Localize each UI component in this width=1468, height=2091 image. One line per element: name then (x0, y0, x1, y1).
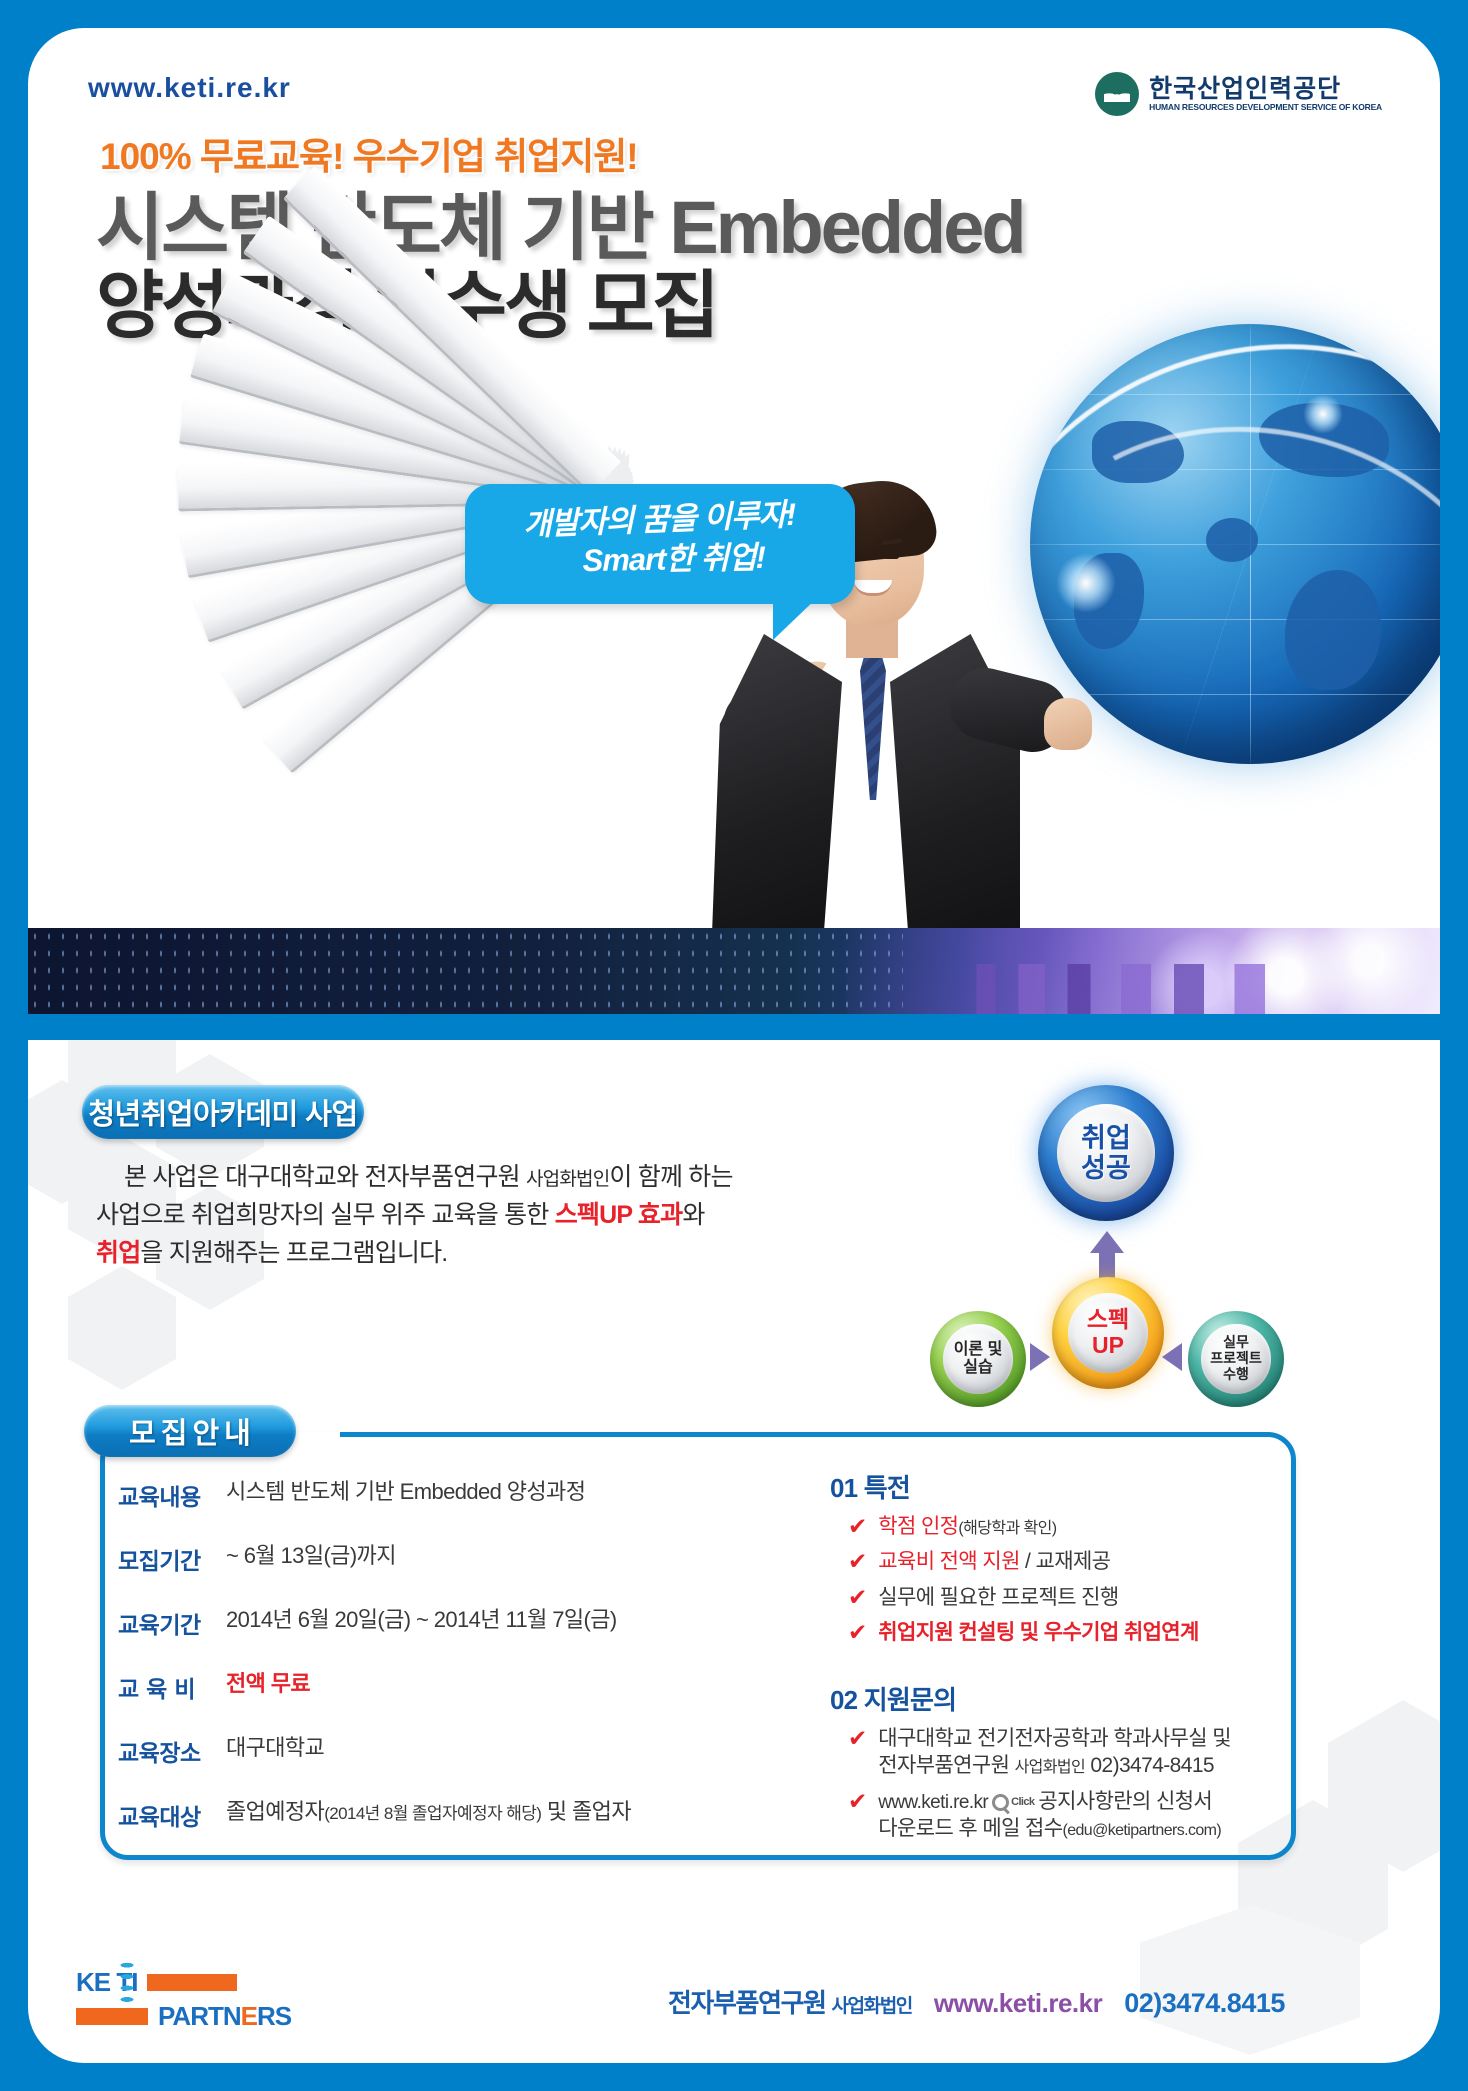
lead-part-2b: 와 (682, 1201, 704, 1229)
target-value-main: 졸업예정자 (226, 1799, 324, 1824)
hrd-emblem-icon (1095, 72, 1139, 116)
table-row: 교육내용 시스템 반도체 기반 Embedded 양성과정 (118, 1478, 758, 1512)
benefit-plain-text: 실무에 필요한 프로젝트 진행 (878, 1584, 1118, 1611)
section-title-recruit: 모집안내 (84, 1405, 296, 1457)
row-value: 대구대학교 (226, 1734, 324, 1762)
node-practice-line2: 프로젝트 (1210, 1350, 1262, 1366)
check-icon: ✔ (848, 1619, 867, 1645)
diagram-node-theory: 이론 및 실습 (930, 1311, 1026, 1407)
list-item: ✔ 교육비 전액 지원 / 교재제공 (848, 1548, 1300, 1575)
node-spec-line1: 스펙 (1087, 1306, 1129, 1332)
click-label: Click (1011, 1795, 1034, 1809)
inquiry-line-2a: 전자부품연구원 (878, 1754, 1014, 1777)
lead-part-1-small: 사업화법인 (526, 1169, 609, 1190)
partners-text-b: RS (257, 2001, 291, 2031)
footer-org-note: 사업화법인 (831, 1996, 911, 2017)
diagram-node-practice: 실무 프로젝트 수행 (1188, 1311, 1284, 1407)
list-item: ✔ www.keti.re.krClick공지사항란의 신청서 다운로드 후 메… (848, 1788, 1300, 1843)
inquiry-phone: 02)3474-8415 (1085, 1754, 1214, 1777)
node-practice-line1: 실무 (1223, 1334, 1249, 1350)
node-practice-line3: 수행 (1223, 1366, 1249, 1382)
benefit-note: (해당학과 확인) (958, 1520, 1056, 1537)
row-value: 졸업예정자(2014년 8월 졸업자예정자 해당) 및 졸업자 (226, 1798, 631, 1826)
benefits-heading: 01 특전 (830, 1468, 1300, 1505)
globe-graphic (1030, 324, 1440, 764)
inquiry-email: (edu@ketipartners.com) (1062, 1822, 1221, 1839)
recruit-detail-list: 교육내용 시스템 반도체 기반 Embedded 양성과정 모집기간 ~ 6월 … (118, 1478, 758, 1862)
lead-part-1: 본 사업은 대구대학교와 전자부품연구원 (96, 1163, 526, 1191)
spec-up-diagram: 취업 성공 스펙 UP 이론 및 실습 실무 프로젝트 수행 (930, 1085, 1290, 1395)
list-item: ✔ 실무에 필요한 프로젝트 진행 (848, 1584, 1300, 1611)
table-row: 교육기간 2014년 6월 20일(금) ~ 2014년 11월 7일(금) (118, 1606, 758, 1640)
benefits-and-inquiry: 01 특전 ✔ 학점 인정(해당학과 확인) ✔ 교육비 전액 지원 / 교재제… (830, 1468, 1300, 1851)
footer-website-url[interactable]: www.keti.re.kr (934, 1988, 1102, 2019)
list-item: ✔ 학점 인정(해당학과 확인) (848, 1513, 1300, 1540)
hrd-korea-logo: 한국산업인력공단 HUMAN RESOURCES DEVELOPMENT SER… (1095, 72, 1382, 116)
row-label: 교육비 (118, 1670, 226, 1704)
row-value: 전액 무료 (226, 1670, 310, 1698)
hrd-logo-english: HUMAN RESOURCES DEVELOPMENT SERVICE OF K… (1149, 102, 1382, 112)
diagram-node-spec-up: 스펙 UP (1052, 1277, 1164, 1389)
footer-org-name: 전자부품연구원 (668, 1988, 831, 2018)
lead-highlight-job: 취업 (96, 1239, 140, 1267)
check-icon: ✔ (848, 1725, 867, 1751)
row-value: 시스템 반도체 기반 Embedded 양성과정 (226, 1478, 585, 1506)
row-value: 2014년 6월 20일(금) ~ 2014년 11월 7일(금) (226, 1606, 617, 1634)
banner-city-lights (847, 928, 1440, 1014)
inquiry-heading: 02 지원문의 (830, 1680, 1300, 1717)
inquiry-line-2-note: 사업화법인 (1015, 1759, 1086, 1776)
node-theory-line1: 이론 및 (954, 1341, 1003, 1358)
check-icon: ✔ (848, 1788, 867, 1814)
header-website-url: www.keti.re.kr (88, 72, 291, 104)
keti-orange-bar (147, 1974, 237, 1991)
footer: KE TI PARTNERS 전자부품연구원 사업화법인 www.keti.re… (28, 1905, 1440, 2063)
benefit-plain-text: / 교재제공 (1020, 1550, 1111, 1573)
check-icon: ✔ (848, 1513, 867, 1539)
arrow-left-icon (1162, 1343, 1182, 1371)
benefit-red-text: 교육비 전액 지원 (878, 1550, 1020, 1573)
row-label: 교육대상 (118, 1798, 226, 1832)
benefit-red-text: 취업지원 컨설팅 및 우수기업 취업연계 (878, 1619, 1198, 1646)
speech-bubble: 개발자의 꿈을 이루자! Smart한 취업! (465, 484, 855, 604)
lead-part-2: 사업으로 취업희망자의 실무 위주 교육을 통한 (96, 1201, 555, 1229)
target-value-tail: 및 졸업자 (541, 1799, 631, 1824)
inquiry-download-text: 다운로드 후 메일 접수 (878, 1817, 1062, 1840)
keti-dots-icon (118, 1959, 136, 2003)
row-label: 교육내용 (118, 1478, 226, 1512)
node-theory-line2: 실습 (963, 1359, 992, 1376)
hrd-logo-korean: 한국산업인력공단 (1149, 76, 1382, 102)
footer-hexagon-watermark (1140, 1905, 1360, 2055)
check-icon: ✔ (848, 1548, 867, 1574)
academy-description: 본 사업은 대구대학교와 전자부품연구원 사업화법인이 함께 하는 사업으로 취… (96, 1158, 756, 1272)
partners-text-a: PARTN (158, 2001, 241, 2031)
check-icon: ✔ (848, 1584, 867, 1610)
footer-contact: 전자부품연구원 사업화법인 www.keti.re.kr 02)3474.841… (668, 1983, 1285, 2020)
table-row: 교육대상 졸업예정자(2014년 8월 졸업자예정자 해당) 및 졸업자 (118, 1798, 758, 1832)
row-label: 교육기간 (118, 1606, 226, 1640)
list-item: ✔ 대구대학교 전기전자공학과 학과사무실 및 전자부품연구원 사업화법인 02… (848, 1725, 1300, 1780)
inquiry-line-rest: 공지사항란의 신청서 (1038, 1790, 1212, 1813)
list-item: ✔ 취업지원 컨설팅 및 우수기업 취업연계 (848, 1619, 1300, 1646)
bubble-line-2: Smart한 취업! (491, 536, 856, 582)
inquiry-website-link[interactable]: www.keti.re.kr (878, 1792, 988, 1813)
arrow-right-icon (1030, 1343, 1050, 1371)
lead-part-1b: 이 함께 하는 (609, 1163, 732, 1191)
banner-dot-pattern (28, 928, 903, 1014)
diagram-node-success: 취업 성공 (1038, 1085, 1174, 1221)
lead-highlight-spec: 스펙UP 효과 (555, 1201, 683, 1229)
target-value-note: (2014년 8월 졸업자예정자 해당) (324, 1804, 541, 1823)
partners-accent: E (241, 2001, 257, 2031)
decorative-banner-strip (28, 928, 1440, 1014)
node-success-line2: 성공 (1081, 1153, 1131, 1183)
keti-partners-logo: KE TI PARTNERS (76, 1967, 276, 2033)
row-label: 교육장소 (118, 1734, 226, 1768)
section-title-academy: 청년취업아카데미 사업 (82, 1085, 364, 1139)
footer-telephone: 02)3474.8415 (1124, 1988, 1285, 2019)
node-spec-line2: UP (1092, 1332, 1124, 1358)
benefit-red-text: 학점 인정 (878, 1515, 958, 1538)
node-success-line1: 취업 (1081, 1123, 1131, 1153)
row-value: ~ 6월 13일(금)까지 (226, 1542, 396, 1570)
hero-panel: www.keti.re.kr 한국산업인력공단 HUMAN RESOURCES … (28, 28, 1440, 928)
click-cursor-icon: Click (992, 1794, 1034, 1811)
arrow-up-icon (1090, 1231, 1124, 1253)
row-label: 모집기간 (118, 1542, 226, 1576)
lead-part-3b: 을 지원해주는 프로그램입니다. (140, 1239, 447, 1267)
table-row: 모집기간 ~ 6월 13일(금)까지 (118, 1542, 758, 1576)
keti-orange-bar-2 (76, 2008, 148, 2025)
table-row: 교육장소 대구대학교 (118, 1734, 758, 1768)
table-row: 교육비 전액 무료 (118, 1670, 758, 1704)
inquiry-line-1: 대구대학교 전기전자공학과 학과사무실 및 (878, 1727, 1231, 1750)
